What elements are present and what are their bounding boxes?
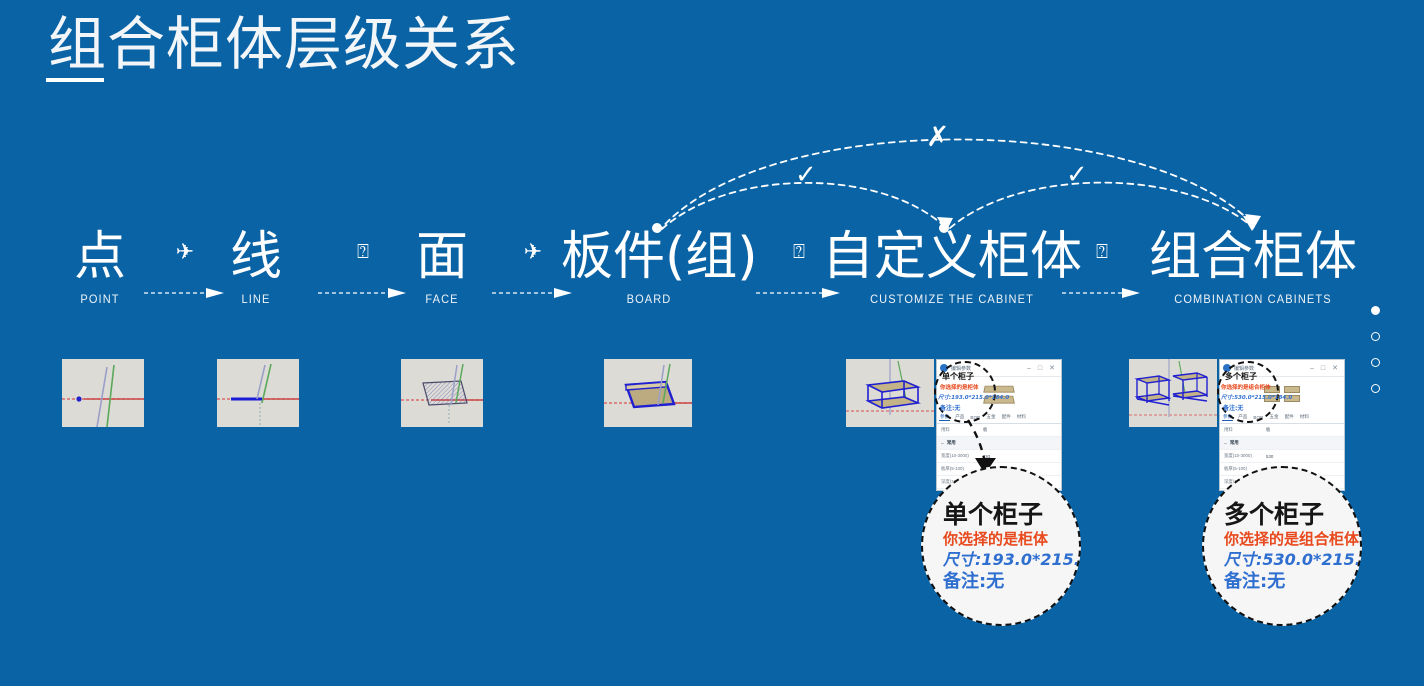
chain-node-label-cn: 线: [214, 227, 298, 287]
row-value: 193: [983, 454, 990, 459]
row-label: 宽度(10-3000): [1224, 453, 1266, 459]
close-icon[interactable]: ✕: [1049, 365, 1055, 372]
mini-callout-dimension: 尺寸:193.0*215.0*184.0: [938, 393, 1009, 401]
callout-subtitle: 你选择的是柜体: [943, 529, 1048, 549]
pager-dot-1[interactable]: [1371, 306, 1380, 315]
tab-material[interactable]: 材料: [1016, 414, 1027, 420]
dashed-arrow: [756, 288, 842, 298]
chain-node-label-cn: 自定义柜体: [820, 227, 1084, 287]
chain-node-label-cn: 点: [58, 227, 142, 287]
maximize-icon[interactable]: □: [1038, 365, 1042, 372]
connector-point-to-line: ✈: [144, 246, 226, 310]
row-label: 宽度(10-3000): [941, 453, 983, 459]
row-value: 530: [1266, 454, 1273, 459]
pager-dot-4[interactable]: [1371, 384, 1380, 393]
callout-note: 备注:无: [943, 570, 1004, 593]
table-row[interactable]: 宽度(10-3000) 530: [1220, 450, 1344, 463]
dashed-arrow: [492, 288, 574, 298]
question-icon: ⍰: [793, 242, 805, 262]
row-label: 用料: [1224, 427, 1266, 433]
pager-dot-3[interactable]: [1371, 358, 1380, 367]
tab-hardware[interactable]: 五金: [1268, 414, 1279, 420]
row-label: 常用: [947, 440, 989, 446]
arc-mark-cross: ✗: [926, 120, 949, 153]
callout-note: 备注:无: [1224, 570, 1285, 593]
callout-title: 多个柜子: [1224, 500, 1324, 529]
connector-custom-to-combination: ⍰: [1062, 246, 1142, 310]
dashed-arrow: [318, 288, 408, 298]
question-icon: ⍰: [357, 242, 369, 262]
arc-mark-check-1: ✓: [795, 160, 817, 190]
chain-node-label-en: FACE: [403, 291, 480, 307]
chain-node-label-cn: 组合柜体: [1140, 227, 1366, 287]
table-row[interactable]: 宽度(10-3000) 193: [937, 450, 1061, 463]
chain-node-line: 线 LINE: [214, 227, 298, 307]
thumbnail-face: [401, 359, 483, 427]
plane-icon: ✈: [524, 242, 542, 262]
table-row[interactable]: 用料 板: [937, 424, 1061, 437]
row-label: 常用: [1230, 440, 1272, 446]
mini-callout-subtitle: 你选择的是组合柜体: [1221, 383, 1271, 391]
board-chip: [1284, 386, 1300, 393]
callout-single-cabinet: 单个柜子 你选择的是柜体 尺寸:193.0*215.0* 备注:无: [921, 466, 1081, 626]
slide-canvas: 组合柜体层级关系 ✗ ✓ ✓ 点 POINT 线 LINE 面 FACE 板件(…: [0, 0, 1424, 686]
mini-callout-title: 多个柜子: [1225, 371, 1257, 382]
thumbnail-board: [604, 359, 692, 427]
collapse-icon[interactable]: ─: [1224, 441, 1227, 446]
row-label: 用料: [941, 427, 983, 433]
callout-subtitle: 你选择的是组合柜体: [1224, 529, 1359, 549]
mini-callout-title: 单个柜子: [942, 371, 974, 382]
plane-icon: ✈: [176, 242, 194, 262]
table-row[interactable]: 用料 板: [1220, 424, 1344, 437]
title-underline: [46, 78, 104, 82]
window-buttons[interactable]: – □ ✕: [1027, 365, 1058, 372]
chain-node-combination-cabinet: 组合柜体 COMBINATION CABINETS: [1140, 227, 1366, 307]
sketchup-viewport-single: [846, 359, 934, 427]
chain-node-label-en: LINE: [217, 291, 294, 307]
callout-dimension: 尺寸:193.0*215.0*: [943, 549, 1081, 570]
collapse-icon[interactable]: ─: [941, 441, 944, 446]
thumbnail-point: [62, 359, 144, 427]
connector-face-to-board: ✈: [492, 246, 574, 310]
chain-node-point: 点 POINT: [58, 227, 142, 307]
chain-node-label-en: CUSTOMIZE THE CABINET: [831, 291, 1074, 307]
row-value: 板: [1266, 427, 1270, 433]
mini-callout-note: 备注:无: [940, 403, 960, 412]
arc-mark-check-2: ✓: [1066, 160, 1088, 190]
chain-node-label-cn: 板件(组): [561, 227, 737, 287]
tab-accessory[interactable]: 配件: [1284, 414, 1295, 420]
tab-accessory[interactable]: 配件: [1001, 414, 1012, 420]
minimize-icon[interactable]: –: [1027, 365, 1031, 372]
chain-node-label-en: BOARD: [568, 291, 730, 307]
chain-node-label-en: COMBINATION CABINETS: [1149, 291, 1357, 307]
page-title: 组合柜体层级关系: [48, 8, 520, 80]
maximize-icon[interactable]: □: [1321, 365, 1325, 372]
window-buttons[interactable]: – □ ✕: [1310, 365, 1341, 372]
connector-board-to-custom: ⍰: [756, 246, 842, 310]
panel-multi-cabinet: 编辑参数 – □ ✕ 参数 产品 BOD: [1129, 359, 1345, 489]
callout-dimension: 尺寸:530.0*215.0*18: [1224, 549, 1362, 570]
callout-title: 单个柜子: [943, 500, 1043, 529]
sketchup-viewport-multi: [1129, 359, 1217, 427]
chain-node-face: 面 FACE: [400, 227, 484, 307]
mini-callout-dimension: 尺寸:530.0*215.0*184.0: [1221, 393, 1292, 401]
tab-material[interactable]: 材料: [1299, 414, 1310, 420]
close-icon[interactable]: ✕: [1332, 365, 1338, 372]
dashed-arrow: [1062, 288, 1142, 298]
callout-multi-cabinet: 多个柜子 你选择的是组合柜体 尺寸:530.0*215.0*18 备注:无: [1202, 466, 1362, 626]
chain-node-label-en: POINT: [61, 291, 138, 307]
thumbnail-line: [217, 359, 299, 427]
mini-callout-subtitle: 你选择的是柜体: [940, 383, 979, 391]
chain-node-board: 板件(组) BOARD: [561, 227, 737, 307]
table-row-group[interactable]: ─ 常用: [1220, 437, 1344, 450]
question-icon: ⍰: [1096, 242, 1108, 262]
connector-line-to-face: ⍰: [318, 246, 408, 310]
dashed-arrow: [144, 288, 226, 298]
pager-dot-2[interactable]: [1371, 332, 1380, 341]
slide-pager[interactable]: [1371, 306, 1380, 393]
chain-node-label-cn: 面: [400, 227, 484, 287]
mini-callout-note: 备注:无: [1223, 403, 1243, 412]
panel-single-cabinet: 编辑参数 – □ ✕ 参数 产品 BOD 五金 配件 材料 用料: [846, 359, 1062, 489]
minimize-icon[interactable]: –: [1310, 365, 1314, 372]
chain-node-custom-cabinet: 自定义柜体 CUSTOMIZE THE CABINET: [820, 227, 1084, 307]
table-row-group[interactable]: ─ 常用: [937, 437, 1061, 450]
row-value: 板: [983, 427, 987, 433]
tab-hardware[interactable]: 五金: [985, 414, 996, 420]
